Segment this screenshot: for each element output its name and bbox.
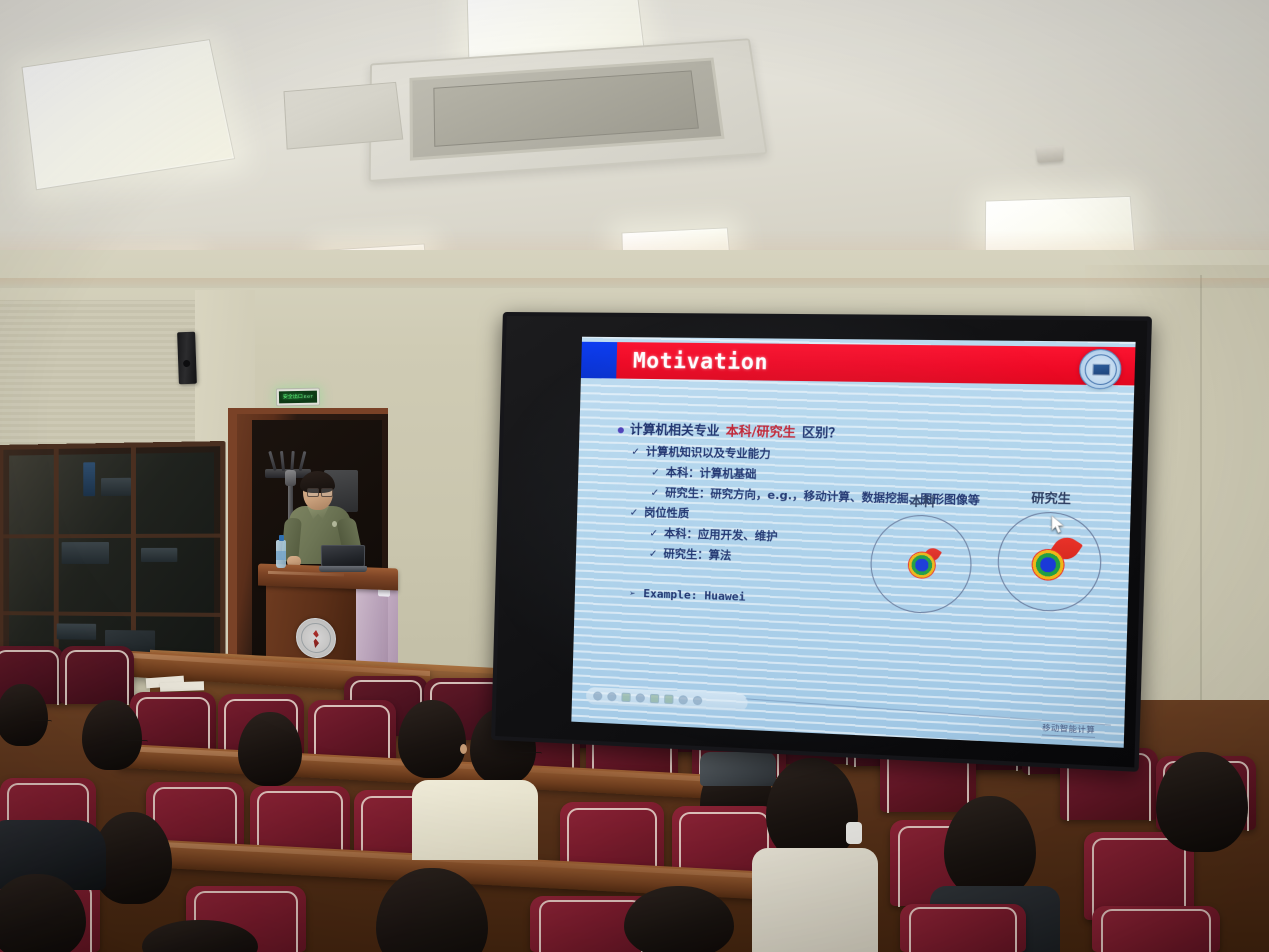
person-head <box>238 712 302 786</box>
bullet-text: 本科：应用开发、维护 <box>664 527 778 544</box>
equipment-cabinet[interactable] <box>0 441 225 677</box>
diagram-label: 研究生 <box>994 488 1109 509</box>
diagram-column-graduate: 研究生 <box>991 488 1109 614</box>
cabinet-shelf <box>3 534 220 539</box>
wall-speaker <box>177 332 197 385</box>
person-head <box>398 700 466 778</box>
smoke-detector <box>1036 145 1063 163</box>
face-mask <box>846 822 862 844</box>
diagram-circle <box>996 511 1102 613</box>
bullet-dot-icon <box>618 427 624 433</box>
diagram-circle <box>869 514 973 615</box>
more-options-icon[interactable] <box>678 695 687 705</box>
checkmark-icon: ✓ <box>649 528 658 539</box>
slide-title: Motivation <box>633 348 769 374</box>
person-head <box>944 796 1036 898</box>
checkmark-icon: ✓ <box>631 447 640 458</box>
auditorium-seat[interactable] <box>60 646 134 704</box>
glasses-icon <box>30 720 52 725</box>
cabinet-equipment <box>141 548 177 562</box>
presentation-display: Motivation 计算机相关专业 本科/研究生 区别？ ✓ 计算机知识以及专… <box>491 312 1152 772</box>
arrow-bullet-icon: ➢ <box>629 589 635 600</box>
cabinet-equipment <box>57 623 96 639</box>
bullet-text: 岗位性质 <box>644 506 689 520</box>
university-seal-logo <box>1079 349 1122 390</box>
glasses-icon <box>124 740 148 745</box>
prev-slide-icon[interactable] <box>593 691 602 700</box>
powerpoint-slideshow-toolbar[interactable] <box>586 687 748 711</box>
backpack <box>700 752 776 786</box>
auditorium-seat[interactable] <box>1092 906 1220 952</box>
exit-sign-label-en: EXIT <box>304 395 313 399</box>
cabinet-equipment <box>83 462 95 496</box>
pointer-icon[interactable] <box>607 692 616 702</box>
pen-icon[interactable] <box>621 693 630 703</box>
exit-sign-label-cn: 安全出口 <box>283 394 303 399</box>
flower-core <box>1031 548 1065 581</box>
person-head <box>766 758 858 862</box>
huawei-flower-icon <box>1029 542 1074 586</box>
checkmark-icon: ✓ <box>650 488 659 499</box>
person-ear <box>460 744 467 754</box>
shirt-logo <box>332 521 337 527</box>
person-torso <box>752 848 878 952</box>
laptop-screen <box>321 545 365 567</box>
glasses-icon <box>518 752 542 757</box>
slide-title-bar: Motivation <box>616 342 1135 385</box>
lecture-hall-photo: 安全出口 EXIT <box>0 0 1269 952</box>
next-slide-icon[interactable] <box>693 696 703 706</box>
cabinet-equipment <box>62 542 109 564</box>
presenter-laptop[interactable] <box>319 545 367 573</box>
water-bottle <box>276 540 286 568</box>
emergency-exit-sign: 安全出口 EXIT <box>276 388 320 407</box>
bullet-text: 计算机知识以及专业能力 <box>646 445 771 461</box>
person-head <box>1156 752 1248 852</box>
zoom-icon[interactable] <box>650 694 659 704</box>
huawei-flower-icon <box>905 549 938 581</box>
diagram-label: 本科 <box>867 491 979 511</box>
slide-footer: 移动智能计算 <box>1042 722 1095 738</box>
checkmark-icon: ✓ <box>649 549 658 560</box>
subtitles-icon[interactable] <box>664 694 673 704</box>
glasses-icon <box>307 488 333 495</box>
flower-core <box>908 551 937 579</box>
ceiling-vent <box>283 82 403 150</box>
slide-heading: 计算机相关专业 本科/研究生 区别？ <box>618 418 1125 447</box>
auditorium-seat[interactable] <box>900 904 1026 952</box>
slide-grid-icon[interactable] <box>636 693 645 703</box>
person-head <box>82 700 142 770</box>
comparison-diagram: 本科 研究生 <box>862 491 1117 677</box>
paper-sheet <box>160 681 204 692</box>
checkmark-icon: ✓ <box>651 467 660 478</box>
diagram-column-undergraduate: 本科 <box>864 491 979 615</box>
bullet-text: 本科：计算机基础 <box>666 466 757 481</box>
heading-text-before: 计算机相关专业 <box>630 418 720 439</box>
bullet-text: 研究生：算法 <box>663 547 731 562</box>
heading-text-after: 区别？ <box>802 421 842 441</box>
checkmark-icon: ✓ <box>630 507 639 518</box>
person-torso <box>412 780 538 860</box>
cabinet-equipment <box>101 478 131 496</box>
powerpoint-slide: Motivation 计算机相关专业 本科/研究生 区别？ ✓ 计算机知识以及专… <box>571 337 1135 748</box>
example-text: Example: Huawei <box>643 587 745 604</box>
laptop-keyboard[interactable] <box>319 566 367 572</box>
wall-trim <box>0 278 1269 288</box>
heading-highlight: 本科/研究生 <box>726 420 796 441</box>
wall-seam <box>1200 275 1202 755</box>
